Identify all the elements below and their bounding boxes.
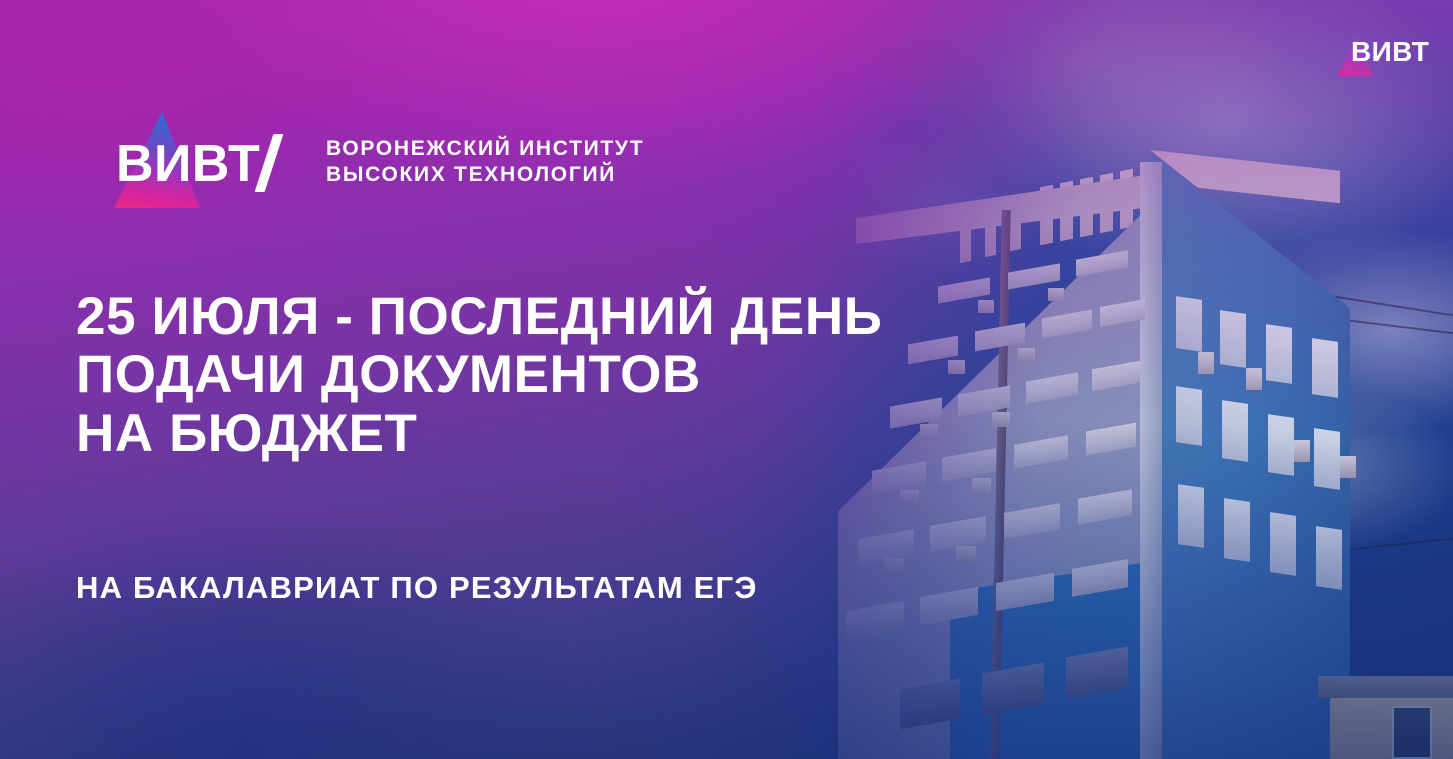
promo-banner: ВИВТ ВОРОНЕЖСКИЙ ИНСТИТУТ ВЫСОКИХ ТЕХНОЛ… (0, 0, 1453, 759)
vivt-logo[interactable]: ВИВТ ВОРОНЕЖСКИЙ ИНСТИТУТ ВЫСОКИХ ТЕХНОЛ… (114, 112, 644, 208)
subheadline: НА БАКАЛАВРИАТ ПО РЕЗУЛЬТАТАМ ЕГЭ (76, 570, 758, 606)
headline-line-3: НА БЮДЖЕТ (76, 405, 1076, 463)
corner-logo-wordmark: ВИВТ (1351, 38, 1429, 66)
headline: 25 ИЮЛЯ - ПОСЛЕДНИЙ ДЕНЬ ПОДАЧИ ДОКУМЕНТ… (76, 288, 1076, 463)
headline-line-2: ПОДАЧИ ДОКУМЕНТОВ (76, 346, 1076, 404)
logo-tagline: ВОРОНЕЖСКИЙ ИНСТИТУТ ВЫСОКИХ ТЕХНОЛОГИЙ (326, 132, 644, 187)
vivt-logo-corner[interactable]: ВИВТ (1337, 32, 1453, 76)
headline-line-1: 25 ИЮЛЯ - ПОСЛЕДНИЙ ДЕНЬ (76, 288, 1076, 346)
logo-mark: ВИВТ (114, 112, 300, 208)
logo-wordmark: ВИВТ (116, 138, 260, 190)
